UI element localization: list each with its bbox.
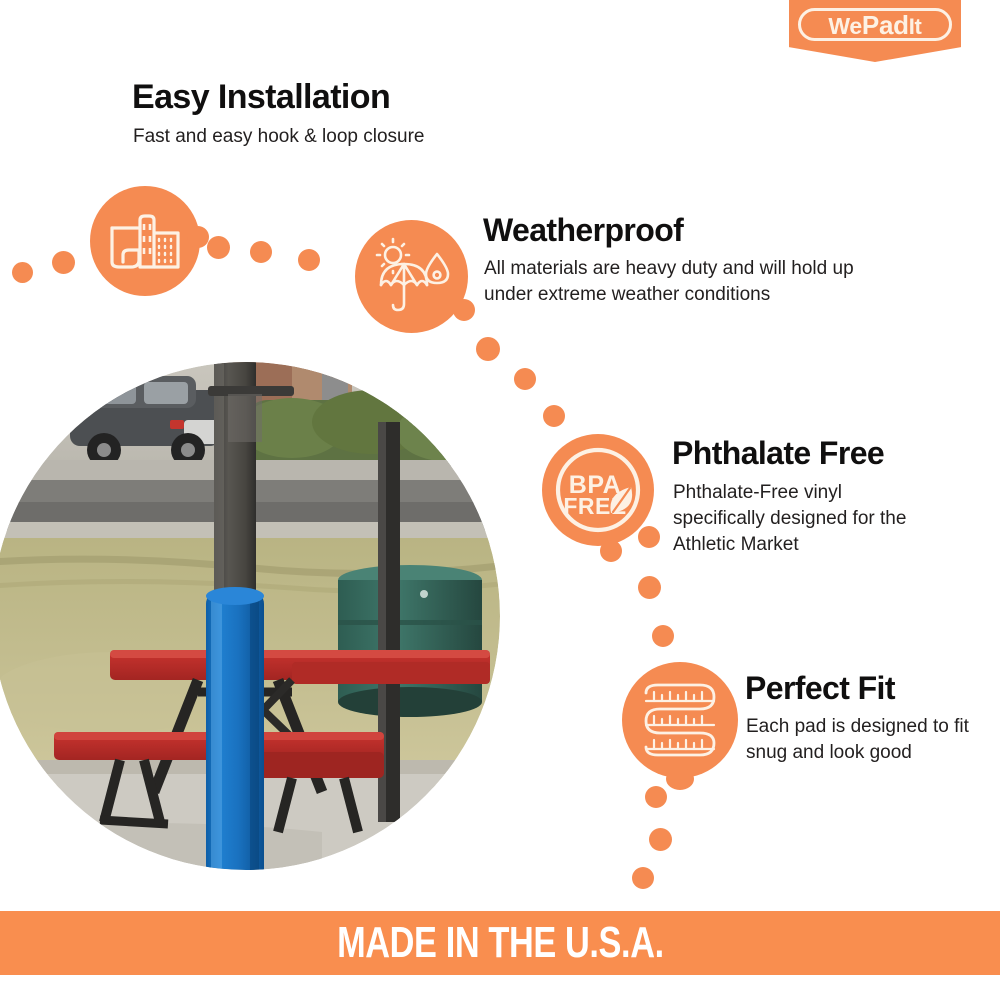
tape-measure-icon <box>622 662 738 778</box>
trail-dot <box>543 405 565 427</box>
trail-dot <box>638 576 661 599</box>
feature-desc-easy-installation: Fast and easy hook & loop closure <box>133 124 553 150</box>
feature-title-weatherproof: Weatherproof <box>483 214 683 248</box>
trail-dot <box>476 337 500 361</box>
trail-dot <box>649 828 672 851</box>
trail-dot <box>12 262 33 283</box>
feature-desc-weatherproof: All materials are heavy duty and will ho… <box>484 256 904 308</box>
feature-desc-perfect-fit: Each pad is designed to fit snug and loo… <box>746 714 976 766</box>
building-install-icon <box>90 186 200 296</box>
sun-umbrella-raindrop-icon <box>355 220 468 333</box>
feature-title-perfect-fit: Perfect Fit <box>745 672 895 706</box>
product-photo-pole-pad <box>0 362 500 870</box>
feature-title-phthalate-free: Phthalate Free <box>672 437 884 471</box>
trail-dot <box>207 236 230 259</box>
made-in-usa-text: MADE IN THE U.S.A. <box>337 921 664 965</box>
trail-dot <box>632 867 654 889</box>
trail-dot <box>514 368 536 390</box>
trail-dot <box>600 540 622 562</box>
bpa-free-leaf-icon: BPA FREE <box>542 434 654 546</box>
logo-word-it: It <box>909 14 922 39</box>
trail-dot <box>298 249 320 271</box>
trail-dot <box>645 786 667 808</box>
feature-desc-phthalate-free: Phthalate-Free vinyl specifically design… <box>673 480 935 559</box>
brand-logo[interactable]: WePadIt <box>789 0 961 62</box>
product-infographic: WePadIt <box>0 0 1000 987</box>
logo-word-we: We <box>828 13 862 39</box>
logo-wordmark: WePadIt <box>828 12 921 38</box>
logo-outline-frame: WePadIt <box>798 8 952 41</box>
trail-dot <box>52 251 75 274</box>
trail-dot <box>652 625 674 647</box>
logo-word-pad: Pad <box>862 10 909 40</box>
made-in-usa-banner: MADE IN THE U.S.A. <box>0 911 1000 975</box>
feature-title-easy-installation: Easy Installation <box>132 80 390 116</box>
trail-dot <box>250 241 272 263</box>
